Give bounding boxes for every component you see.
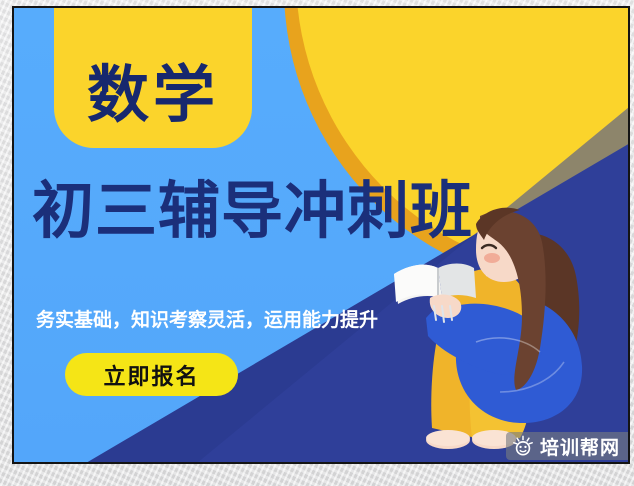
subject-badge-label: 数学	[87, 64, 219, 126]
enroll-now-button-label: 立即报名	[103, 359, 199, 391]
banner-headline: 初三辅导冲刺班	[32, 180, 473, 242]
site-watermark-label: 培训帮网	[540, 433, 620, 460]
banner-canvas: 数学 初三辅导冲刺班 务实基础，知识考察灵活，运用能力提升 立即报名	[14, 8, 628, 462]
subject-badge: 数学	[54, 8, 252, 148]
promo-banner: 数学 初三辅导冲刺班 务实基础，知识考察灵活，运用能力提升 立即报名	[12, 6, 630, 464]
site-watermark: 培训帮网	[506, 432, 628, 460]
enroll-now-button[interactable]: 立即报名	[65, 353, 238, 396]
sun-smiley-icon	[512, 435, 534, 457]
banner-tagline: 务实基础，知识考察灵活，运用能力提升	[36, 305, 378, 332]
page-backdrop: 数学 初三辅导冲刺班 务实基础，知识考察灵活，运用能力提升 立即报名	[0, 0, 634, 486]
